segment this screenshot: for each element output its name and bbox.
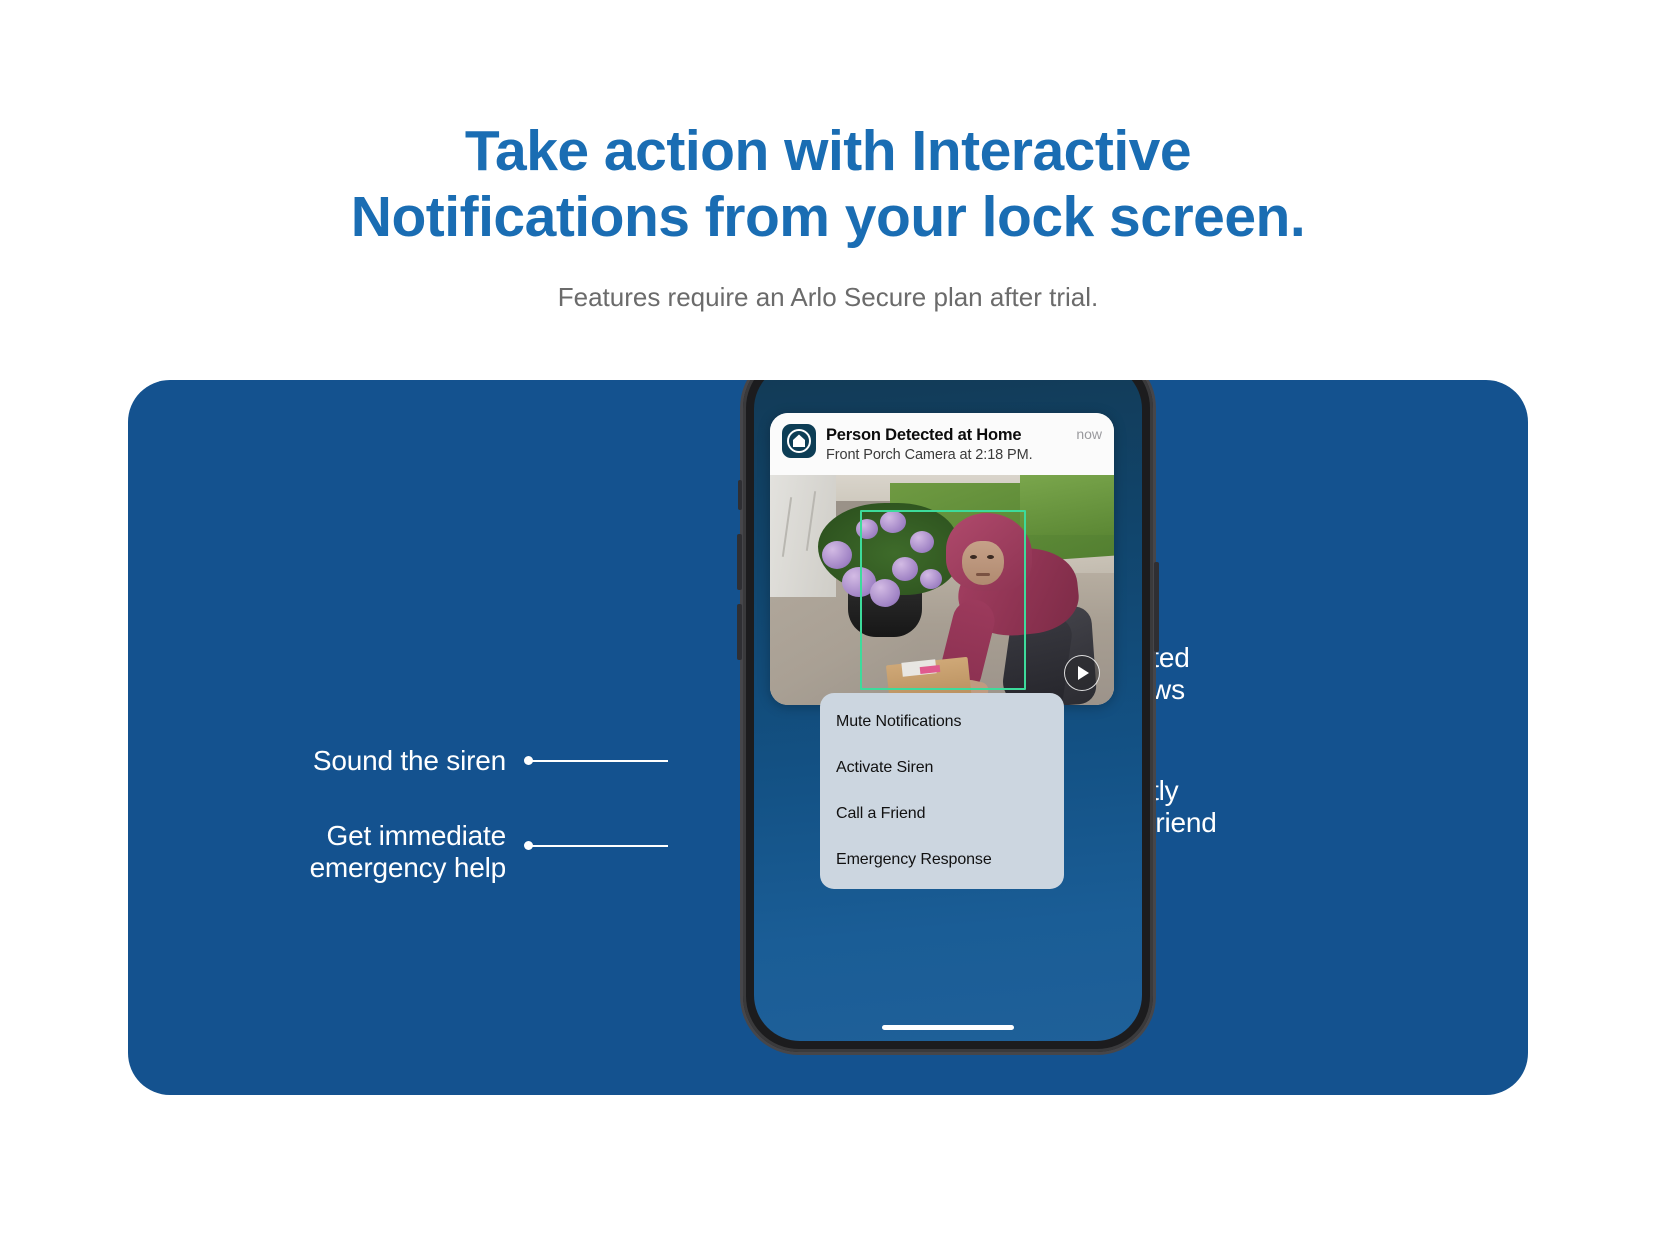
- notification-action-menu: Mute Notifications Activate Siren Call a…: [820, 693, 1064, 889]
- notification-title: Person Detected at Home: [826, 425, 1066, 445]
- callout-sound-siren-line1: Sound the siren: [176, 745, 506, 777]
- person-detection-box: [860, 510, 1026, 690]
- leader-dot-sound-siren: [524, 756, 533, 765]
- leader-dot-emergency-help: [524, 841, 533, 850]
- notification-text: Person Detected at Home Front Porch Came…: [826, 424, 1066, 465]
- page-title-line2: Notifications from your lock screen.: [0, 184, 1656, 250]
- arlo-house-icon: [782, 424, 816, 458]
- action-item-call-a-friend[interactable]: Call a Friend: [820, 791, 1064, 837]
- volume-down-button[interactable]: [737, 604, 742, 660]
- notification-card[interactable]: Person Detected at Home Front Porch Came…: [770, 413, 1114, 705]
- callout-emergency-help-line2: emergency help: [176, 852, 506, 884]
- page-title: Take action with Interactive Notificatio…: [0, 118, 1656, 250]
- phone-screen: Person Detected at Home Front Porch Came…: [754, 380, 1142, 1041]
- feature-panel: Sound the siren Get immediate emergency …: [128, 380, 1528, 1095]
- callout-emergency-help-line1: Get immediate: [176, 820, 506, 852]
- callout-sound-siren: Sound the siren: [176, 745, 506, 777]
- header: Take action with Interactive Notificatio…: [0, 118, 1656, 314]
- page-subtitle: Features require an Arlo Secure plan aft…: [0, 280, 1656, 314]
- notification-subtitle: Front Porch Camera at 2:18 PM.: [826, 446, 1066, 465]
- silent-switch[interactable]: [738, 480, 742, 510]
- leader-line-sound-siren: [528, 760, 668, 762]
- camera-preview-image[interactable]: [770, 475, 1114, 705]
- leader-line-emergency-help: [528, 845, 668, 847]
- home-indicator[interactable]: [882, 1025, 1014, 1030]
- callout-emergency-help: Get immediate emergency help: [176, 820, 506, 884]
- notification-timestamp: now: [1076, 424, 1102, 442]
- phone-mockup: Person Detected at Home Front Porch Came…: [743, 380, 1153, 1052]
- action-item-activate-siren[interactable]: Activate Siren: [820, 745, 1064, 791]
- play-icon[interactable]: [1064, 655, 1100, 691]
- volume-up-button[interactable]: [737, 534, 742, 590]
- action-item-emergency-response[interactable]: Emergency Response: [820, 837, 1064, 883]
- power-button[interactable]: [1154, 562, 1159, 652]
- notification-header: Person Detected at Home Front Porch Came…: [770, 413, 1114, 475]
- page-title-line1: Take action with Interactive: [0, 118, 1656, 184]
- action-item-mute-notifications[interactable]: Mute Notifications: [820, 699, 1064, 745]
